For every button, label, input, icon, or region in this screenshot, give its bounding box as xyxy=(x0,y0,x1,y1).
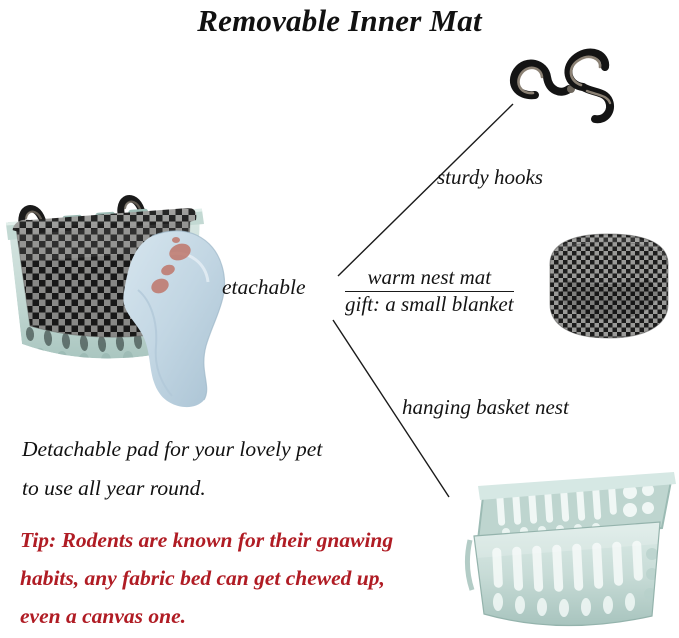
label-nest-mat-fraction: warm nest mat gift: a small blanket xyxy=(345,266,514,316)
sturdy-hooks-photo xyxy=(495,33,627,125)
label-hanging-basket-nest: hanging basket nest xyxy=(402,396,569,418)
tip-line-2: habits, any fabric bed can get chewed up… xyxy=(20,559,393,597)
body-line-1: Detachable pad for your lovely pet xyxy=(22,430,322,469)
tip-line-1: Tip: Rodents are known for their gnawing xyxy=(20,521,393,559)
blue-blanket xyxy=(123,231,224,407)
body-paragraph: Detachable pad for your lovely pet to us… xyxy=(22,430,322,508)
tip-paragraph: Tip: Rodents are known for their gnawing… xyxy=(20,521,393,635)
tip-line-3: even a canvas one. xyxy=(20,597,393,635)
hanging-basket-nest-photo xyxy=(462,470,679,638)
label-sturdy-hooks: sturdy hooks xyxy=(437,166,543,188)
infographic-canvas: Removable Inner Mat xyxy=(0,0,679,638)
label-detachable: etachable xyxy=(222,276,306,299)
leader-line-hooks xyxy=(338,104,513,276)
warm-nest-mat-photo xyxy=(536,224,679,346)
label-warm-nest-mat: warm nest mat xyxy=(345,266,514,292)
body-line-2: to use all year round. xyxy=(22,469,322,508)
label-gift-small-blanket: gift: a small blanket xyxy=(345,292,514,317)
hook-icon-right xyxy=(568,52,610,119)
